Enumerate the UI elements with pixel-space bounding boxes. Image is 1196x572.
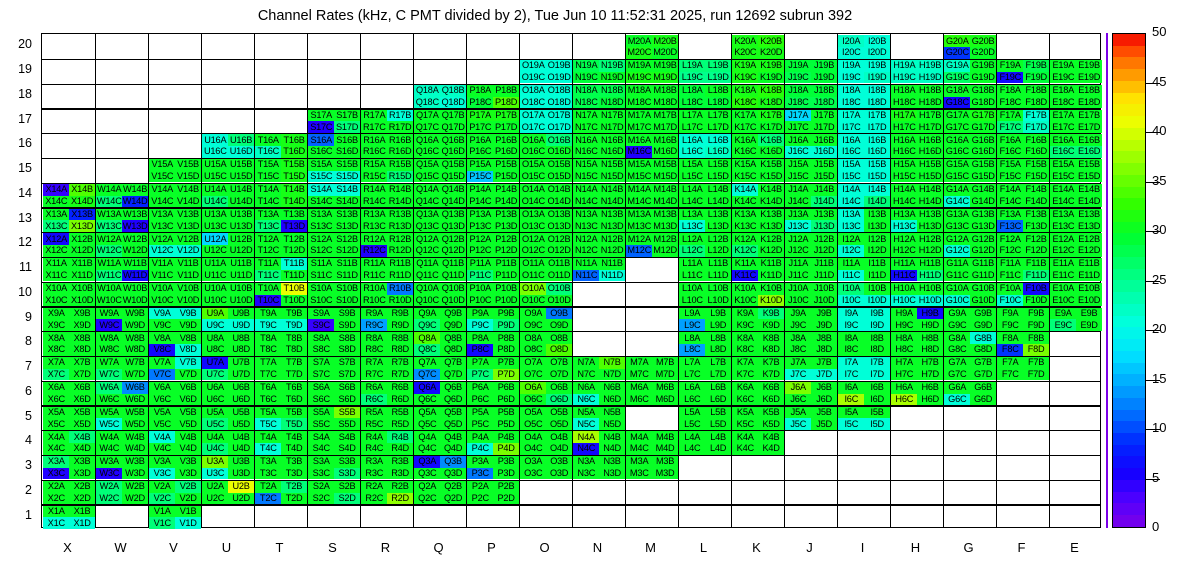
heatmap-subcell-c[interactable]: P10C [467,295,493,307]
heatmap-subcell-c[interactable]: X5C [43,418,69,430]
heatmap-subcell-b[interactable]: W8B [122,332,148,344]
heatmap-subcell-c[interactable]: I18C [838,97,864,109]
heatmap-subcell-b[interactable]: R13B [387,209,413,221]
heatmap-subcell-d[interactable]: X14D [69,196,95,208]
heatmap-subcell-b[interactable]: G18B [970,85,996,97]
heatmap-cell[interactable]: O12AO12BO12CO12D [520,233,572,256]
heatmap-subcell-b[interactable]: U7B [228,357,254,369]
heatmap-subcell-a[interactable]: G12A [944,233,970,245]
heatmap-cell[interactable]: Q5AQ5BQ5CQ5D [414,407,466,430]
heatmap-cell[interactable]: S11AS11BS11CS11D [308,258,360,281]
heatmap-cell[interactable]: K14AK14BK14CK14D [732,184,784,207]
heatmap-cell[interactable]: L16AL16BL16CL16D [679,134,731,157]
heatmap-cell[interactable]: R2AR2BR2CR2D [361,481,413,504]
heatmap-subcell-a[interactable]: M20A [626,35,652,47]
heatmap-subcell-d[interactable]: V10D [175,295,201,307]
heatmap-cell[interactable]: M13AM13BM13CM13D [626,209,678,232]
heatmap-subcell-d[interactable]: S10D [334,295,360,307]
heatmap-subcell-a[interactable]: U8A [202,332,228,344]
heatmap-subcell-a[interactable]: M4A [626,431,652,443]
heatmap-cell[interactable]: U13AU13BU13CU13D [202,209,254,232]
heatmap-subcell-c[interactable]: W4C [96,443,122,455]
heatmap-subcell-d[interactable]: S7D [334,369,360,381]
heatmap-cell[interactable]: N5AN5BN5CN5D [573,407,625,430]
heatmap-cell[interactable]: X10AX10BX10CX10D [43,283,95,306]
heatmap-subcell-c[interactable]: S15C [308,171,334,183]
heatmap-cell[interactable]: T10AT10BT10CT10D [255,283,307,306]
heatmap-subcell-a[interactable]: R14A [361,184,387,196]
heatmap-subcell-a[interactable]: L7A [679,357,705,369]
heatmap-subcell-c[interactable]: R5C [361,418,387,430]
heatmap-subcell-a[interactable]: G11A [944,258,970,270]
heatmap-cell[interactable]: S10AS10BS10CS10D [308,283,360,306]
heatmap-subcell-b[interactable]: U16B [228,134,254,146]
heatmap-cell[interactable]: L11AL11BL11CL11D [679,258,731,281]
heatmap-subcell-b[interactable]: S2B [334,481,360,493]
heatmap-subcell-a[interactable]: O8A [520,332,546,344]
heatmap-subcell-d[interactable]: P14D [493,196,519,208]
heatmap-subcell-c[interactable]: U10C [202,295,228,307]
heatmap-subcell-d[interactable]: S3D [334,468,360,480]
heatmap-subcell-b[interactable]: G6B [970,382,996,394]
heatmap-subcell-a[interactable]: P11A [467,258,493,270]
heatmap-subcell-a[interactable]: S2A [308,481,334,493]
heatmap-subcell-c[interactable]: X13C [43,220,69,232]
heatmap-subcell-a[interactable]: V8A [149,332,175,344]
heatmap-subcell-c[interactable]: G7C [944,369,970,381]
heatmap-subcell-d[interactable]: K18D [758,97,784,109]
heatmap-subcell-c[interactable]: E19C [1050,72,1076,84]
heatmap-cell[interactable]: P12AP12BP12CP12D [467,233,519,256]
heatmap-subcell-d[interactable]: J10D [811,295,837,307]
heatmap-subcell-a[interactable]: P13A [467,209,493,221]
heatmap-subcell-b[interactable]: U10B [228,283,254,295]
heatmap-subcell-a[interactable]: E11A [1050,258,1076,270]
heatmap-cell[interactable]: O3AO3BO3CO3D [520,456,572,479]
heatmap-subcell-d[interactable]: T13D [281,220,307,232]
heatmap-subcell-a[interactable]: I20A [838,35,864,47]
heatmap-subcell-d[interactable]: L7D [705,369,731,381]
heatmap-subcell-b[interactable]: P2B [493,481,519,493]
heatmap-subcell-c[interactable]: F7C [997,369,1023,381]
heatmap-subcell-d[interactable]: O6D [546,394,572,406]
heatmap-subcell-a[interactable]: V2A [149,481,175,493]
heatmap-subcell-a[interactable]: T8A [255,332,281,344]
heatmap-cell[interactable]: I18AI18BI18CI18D [838,85,890,108]
heatmap-subcell-d[interactable]: N11D [599,270,625,282]
heatmap-subcell-c[interactable]: V11C [149,270,175,282]
heatmap-subcell-c[interactable]: S11C [308,270,334,282]
heatmap-cell[interactable]: M4AM4BM4CM4D [626,431,678,454]
heatmap-subcell-d[interactable]: K6D [758,394,784,406]
heatmap-subcell-c[interactable]: S8C [308,344,334,356]
heatmap-subcell-d[interactable]: X13D [69,220,95,232]
heatmap-cell[interactable]: E17AE17BE17CE17D [1050,110,1102,133]
heatmap-subcell-a[interactable]: T6A [255,382,281,394]
heatmap-cell[interactable]: L15AL15BL15CL15D [679,159,731,182]
heatmap-subcell-a[interactable]: R6A [361,382,387,394]
heatmap-subcell-d[interactable]: M20D [652,47,678,59]
heatmap-cell[interactable]: F11AF11BF11CF11D [997,258,1049,281]
heatmap-subcell-d[interactable]: E14D [1076,196,1102,208]
heatmap-subcell-c[interactable]: I9C [838,319,864,331]
heatmap-subcell-a[interactable]: K17A [732,110,758,122]
heatmap-subcell-a[interactable]: O19A [520,60,546,72]
heatmap-cell[interactable]: J9AJ9BJ9CJ9D [785,308,837,331]
heatmap-subcell-d[interactable]: L18D [705,97,731,109]
heatmap-subcell-b[interactable]: E9B [1076,308,1102,320]
heatmap-subcell-d[interactable]: J8D [811,344,837,356]
heatmap-subcell-d[interactable]: H9D [917,319,943,331]
heatmap-subcell-b[interactable]: J6B [811,382,837,394]
heatmap-subcell-a[interactable]: V12A [149,233,175,245]
heatmap-subcell-b[interactable]: S7B [334,357,360,369]
heatmap-subcell-b[interactable]: L10B [705,283,731,295]
heatmap-cell[interactable]: V2AV2BV2CV2D [149,481,201,504]
heatmap-subcell-d[interactable]: W13D [122,220,148,232]
heatmap-subcell-b[interactable]: Q3B [440,456,466,468]
heatmap-subcell-d[interactable]: O13D [546,220,572,232]
heatmap-subcell-c[interactable]: K12C [732,245,758,257]
heatmap-subcell-c[interactable]: F13C [997,220,1023,232]
heatmap-subcell-c[interactable]: M16C [626,146,652,158]
heatmap-subcell-a[interactable]: P4A [467,431,493,443]
heatmap-subcell-c[interactable]: X2C [43,493,69,505]
heatmap-subcell-b[interactable]: S4B [334,431,360,443]
heatmap-cell[interactable]: R12AR12BR12CR12D [361,233,413,256]
heatmap-cell[interactable]: T15AT15BT15CT15D [255,159,307,182]
heatmap-subcell-b[interactable]: O8B [546,332,572,344]
heatmap-subcell-c[interactable]: Q16C [414,146,440,158]
heatmap-subcell-a[interactable]: H18A [891,85,917,97]
heatmap-subcell-b[interactable]: E10B [1076,283,1102,295]
heatmap-subcell-d[interactable]: U9D [228,319,254,331]
heatmap-subcell-b[interactable]: E19B [1076,60,1102,72]
heatmap-subcell-b[interactable]: Q16B [440,134,466,146]
heatmap-subcell-b[interactable]: L15B [705,159,731,171]
heatmap-cell[interactable]: H9AH9BH9CH9D [891,308,943,331]
heatmap-subcell-a[interactable]: M15A [626,159,652,171]
heatmap-subcell-a[interactable]: F16A [997,134,1023,146]
heatmap-subcell-b[interactable]: H12B [917,233,943,245]
heatmap-cell[interactable]: W13AW13BW13CW13D [96,209,148,232]
heatmap-subcell-c[interactable]: F19C [997,72,1023,84]
heatmap-subcell-a[interactable]: S7A [308,357,334,369]
heatmap-subcell-a[interactable]: S10A [308,283,334,295]
heatmap-subcell-c[interactable]: E18C [1050,97,1076,109]
heatmap-subcell-c[interactable]: V10C [149,295,175,307]
heatmap-subcell-b[interactable]: P3B [493,456,519,468]
heatmap-subcell-a[interactable]: W3A [96,456,122,468]
heatmap-subcell-d[interactable]: F9D [1023,319,1049,331]
heatmap-subcell-d[interactable]: P10D [493,295,519,307]
heatmap-subcell-c[interactable]: I5C [838,418,864,430]
heatmap-subcell-a[interactable]: V6A [149,382,175,394]
heatmap-subcell-b[interactable]: F9B [1023,308,1049,320]
heatmap-subcell-b[interactable]: O19B [546,60,572,72]
heatmap-subcell-b[interactable]: Q11B [440,258,466,270]
heatmap-subcell-d[interactable]: Q16D [440,146,466,158]
heatmap-cell[interactable]: G10AG10BG10CG10D [944,283,996,306]
heatmap-subcell-a[interactable]: T14A [255,184,281,196]
heatmap-subcell-c[interactable]: M18C [626,97,652,109]
heatmap-subcell-b[interactable]: L12B [705,233,731,245]
heatmap-subcell-d[interactable]: S9D [334,319,360,331]
heatmap-cell[interactable]: P2AP2BP2CP2D [467,481,519,504]
heatmap-subcell-c[interactable]: G18C [944,97,970,109]
heatmap-subcell-c[interactable]: W8C [96,344,122,356]
heatmap-subcell-b[interactable]: J14B [811,184,837,196]
heatmap-subcell-d[interactable]: J13D [811,220,837,232]
heatmap-subcell-b[interactable]: N14B [599,184,625,196]
heatmap-subcell-d[interactable]: N3D [599,468,625,480]
heatmap-subcell-c[interactable]: U9C [202,319,228,331]
heatmap-subcell-a[interactable]: V13A [149,209,175,221]
heatmap-subcell-a[interactable]: R5A [361,407,387,419]
heatmap-subcell-a[interactable]: E10A [1050,283,1076,295]
heatmap-subcell-d[interactable]: G12D [970,245,996,257]
heatmap-cell[interactable]: P11AP11BP11CP11D [467,258,519,281]
heatmap-cell[interactable]: L18AL18BL18CL18D [679,85,731,108]
heatmap-subcell-c[interactable]: G14C [944,196,970,208]
heatmap-subcell-c[interactable]: E13C [1050,220,1076,232]
heatmap-subcell-b[interactable]: L14B [705,184,731,196]
heatmap-subcell-c[interactable]: G12C [944,245,970,257]
heatmap-subcell-a[interactable]: I17A [838,110,864,122]
heatmap-subcell-b[interactable]: X9B [69,308,95,320]
heatmap-cell[interactable]: Q16AQ16BQ16CQ16D [414,134,466,157]
heatmap-cell[interactable]: U7AU7BU7CU7D [202,357,254,380]
heatmap-subcell-b[interactable]: X8B [69,332,95,344]
heatmap-subcell-b[interactable]: M17B [652,110,678,122]
heatmap-cell[interactable]: X12AX12BX12CX12D [43,233,95,256]
heatmap-subcell-d[interactable]: J19D [811,72,837,84]
heatmap-cell[interactable]: H7AH7BH7CH7D [891,357,943,380]
heatmap-subcell-c[interactable]: J14C [785,196,811,208]
heatmap-subcell-a[interactable]: X14A [43,184,69,196]
heatmap-cell[interactable]: J14AJ14BJ14CJ14D [785,184,837,207]
heatmap-subcell-d[interactable]: R2D [387,493,413,505]
heatmap-subcell-b[interactable]: W14B [122,184,148,196]
heatmap-subcell-a[interactable]: P16A [467,134,493,146]
heatmap-subcell-b[interactable]: Q17B [440,110,466,122]
heatmap-subcell-a[interactable]: G20A [944,35,970,47]
heatmap-subcell-a[interactable]: Q17A [414,110,440,122]
heatmap-subcell-c[interactable]: Q2C [414,493,440,505]
heatmap-subcell-d[interactable]: O17D [546,121,572,133]
heatmap-cell[interactable]: Q6AQ6BQ6CQ6D [414,382,466,405]
heatmap-cell[interactable]: W9AW9BW9CW9D [96,308,148,331]
heatmap-subcell-d[interactable]: S17D [334,121,360,133]
heatmap-subcell-d[interactable]: W6D [122,394,148,406]
heatmap-subcell-c[interactable]: T8C [255,344,281,356]
heatmap-subcell-d[interactable]: U13D [228,220,254,232]
heatmap-subcell-b[interactable]: F8B [1023,332,1049,344]
heatmap-subcell-c[interactable]: L7C [679,369,705,381]
heatmap-subcell-a[interactable]: H6A [891,382,917,394]
heatmap-subcell-d[interactable]: V3D [175,468,201,480]
heatmap-subcell-c[interactable]: R14C [361,196,387,208]
heatmap-cell[interactable]: V1AV1BV1CV1D [149,506,201,529]
heatmap-subcell-a[interactable]: K12A [732,233,758,245]
heatmap-subcell-a[interactable]: Q14A [414,184,440,196]
heatmap-subcell-b[interactable]: V2B [175,481,201,493]
heatmap-subcell-b[interactable]: S3B [334,456,360,468]
heatmap-subcell-c[interactable]: N14C [573,196,599,208]
heatmap-cell[interactable]: K7AK7BK7CK7D [732,357,784,380]
heatmap-subcell-c[interactable]: S17C [308,121,334,133]
heatmap-subcell-c[interactable]: Q3C [414,468,440,480]
heatmap-subcell-d[interactable]: N17D [599,121,625,133]
heatmap-subcell-d[interactable]: L10D [705,295,731,307]
heatmap-subcell-b[interactable]: U12B [228,233,254,245]
heatmap-subcell-c[interactable]: Q12C [414,245,440,257]
heatmap-subcell-b[interactable]: S12B [334,233,360,245]
heatmap-subcell-d[interactable]: R14D [387,196,413,208]
heatmap-cell[interactable]: P14AP14BP14CP14D [467,184,519,207]
heatmap-subcell-b[interactable]: R11B [387,258,413,270]
heatmap-cell[interactable]: M16AM16BM16CM16D [626,134,678,157]
heatmap-cell[interactable]: F19AF19BF19CF19D [997,60,1049,83]
heatmap-cell[interactable]: V6AV6BV6CV6D [149,382,201,405]
heatmap-subcell-d[interactable]: U2D [228,493,254,505]
heatmap-subcell-b[interactable]: F11B [1023,258,1049,270]
heatmap-subcell-d[interactable]: W4D [122,443,148,455]
heatmap-subcell-c[interactable]: N6C [573,394,599,406]
heatmap-subcell-d[interactable]: U8D [228,344,254,356]
heatmap-subcell-c[interactable]: Q15C [414,171,440,183]
heatmap-subcell-a[interactable]: N3A [573,456,599,468]
heatmap-cell[interactable]: S3AS3BS3CS3D [308,456,360,479]
heatmap-subcell-c[interactable]: T6C [255,394,281,406]
heatmap-cell[interactable]: N11AN11BN11CN11D [573,258,625,281]
heatmap-subcell-b[interactable]: G17B [970,110,996,122]
heatmap-subcell-c[interactable]: W6C [96,394,122,406]
heatmap-cell[interactable]: O8AO8BO8CO8D [520,332,572,355]
heatmap-subcell-a[interactable]: T16A [255,134,281,146]
heatmap-subcell-c[interactable]: W12C [96,245,122,257]
heatmap-subcell-b[interactable]: G8B [970,332,996,344]
heatmap-subcell-d[interactable]: T7D [281,369,307,381]
heatmap-subcell-a[interactable]: I19A [838,60,864,72]
heatmap-subcell-b[interactable]: P6B [493,382,519,394]
heatmap-cell[interactable]: S14AS14BS14CS14D [308,184,360,207]
heatmap-subcell-b[interactable]: I12B [864,233,890,245]
heatmap-subcell-d[interactable]: E17D [1076,121,1102,133]
heatmap-subcell-c[interactable]: S4C [308,443,334,455]
heatmap-subcell-b[interactable]: M13B [652,209,678,221]
heatmap-cell[interactable]: N15AN15BN15CN15D [573,159,625,182]
heatmap-subcell-b[interactable]: J8B [811,332,837,344]
heatmap-subcell-a[interactable]: V10A [149,283,175,295]
heatmap-subcell-a[interactable]: O13A [520,209,546,221]
heatmap-subcell-b[interactable]: F17B [1023,110,1049,122]
heatmap-subcell-b[interactable]: O5B [546,407,572,419]
heatmap-cell[interactable]: I20AI20BI20CI20D [838,35,890,58]
heatmap-subcell-d[interactable]: F16D [1023,146,1049,158]
heatmap-subcell-d[interactable]: U12D [228,245,254,257]
heatmap-subcell-a[interactable]: J14A [785,184,811,196]
heatmap-subcell-b[interactable]: F15B [1023,159,1049,171]
heatmap-subcell-a[interactable]: Q4A [414,431,440,443]
heatmap-subcell-c[interactable]: P14C [467,196,493,208]
heatmap-subcell-c[interactable]: R16C [361,146,387,158]
heatmap-cell[interactable]: M20AM20BM20CM20D [626,35,678,58]
heatmap-subcell-d[interactable]: F10D [1023,295,1049,307]
heatmap-subcell-d[interactable]: I12D [864,245,890,257]
heatmap-subcell-c[interactable]: E16C [1050,146,1076,158]
heatmap-cell[interactable]: X13AX13BX13CX13D [43,209,95,232]
heatmap-cell[interactable]: G16AG16BG16CG16D [944,134,996,157]
heatmap-subcell-a[interactable]: K19A [732,60,758,72]
heatmap-subcell-d[interactable]: V14D [175,196,201,208]
heatmap-subcell-c[interactable]: O8C [520,344,546,356]
heatmap-subcell-b[interactable]: T11B [281,258,307,270]
heatmap-subcell-d[interactable]: H7D [917,369,943,381]
heatmap-subcell-d[interactable]: G9D [970,319,996,331]
heatmap-cell[interactable]: G6AG6BG6CG6D [944,382,996,405]
heatmap-subcell-b[interactable]: W12B [122,233,148,245]
heatmap-subcell-a[interactable]: R7A [361,357,387,369]
heatmap-cell[interactable]: N19AN19BN19CN19D [573,60,625,83]
heatmap-subcell-b[interactable]: V6B [175,382,201,394]
heatmap-subcell-c[interactable]: X6C [43,394,69,406]
heatmap-subcell-c[interactable]: V4C [149,443,175,455]
heatmap-cell[interactable]: L5AL5BL5CL5D [679,407,731,430]
heatmap-subcell-d[interactable]: K10D [758,295,784,307]
heatmap-subcell-a[interactable]: S8A [308,332,334,344]
heatmap-subcell-c[interactable]: I7C [838,369,864,381]
heatmap-subcell-a[interactable]: F7A [997,357,1023,369]
heatmap-subcell-d[interactable]: Q5D [440,418,466,430]
heatmap-subcell-d[interactable]: V8D [175,344,201,356]
heatmap-subcell-c[interactable]: M4C [626,443,652,455]
heatmap-subcell-c[interactable]: H9C [891,319,917,331]
heatmap-subcell-a[interactable]: K13A [732,209,758,221]
heatmap-subcell-d[interactable]: U10D [228,295,254,307]
heatmap-subcell-a[interactable]: R17A [361,110,387,122]
heatmap-subcell-a[interactable]: H9A [891,308,917,320]
heatmap-subcell-d[interactable]: V5D [175,418,201,430]
heatmap-subcell-d[interactable]: P12D [493,245,519,257]
heatmap-cell[interactable]: E13AE13BE13CE13D [1050,209,1102,232]
heatmap-subcell-b[interactable]: N6B [599,382,625,394]
heatmap-subcell-b[interactable]: V12B [175,233,201,245]
heatmap-subcell-c[interactable]: M6C [626,394,652,406]
heatmap-subcell-b[interactable]: H10B [917,283,943,295]
heatmap-subcell-a[interactable]: S14A [308,184,334,196]
heatmap-subcell-d[interactable]: Q6D [440,394,466,406]
heatmap-subcell-d[interactable]: I19D [864,72,890,84]
heatmap-subcell-b[interactable]: K11B [758,258,784,270]
heatmap-subcell-b[interactable]: I17B [864,110,890,122]
heatmap-cell[interactable]: T8AT8BT8CT8D [255,332,307,355]
heatmap-cell[interactable]: F16AF16BF16CF16D [997,134,1049,157]
heatmap-cell[interactable]: X7AX7BX7CX7D [43,357,95,380]
heatmap-subcell-d[interactable]: T5D [281,418,307,430]
heatmap-cell[interactable]: S12AS12BS12CS12D [308,233,360,256]
heatmap-subcell-d[interactable]: R13D [387,220,413,232]
heatmap-subcell-a[interactable]: J7A [785,357,811,369]
heatmap-cell[interactable]: H13AH13BH13CH13D [891,209,943,232]
heatmap-subcell-c[interactable]: K9C [732,319,758,331]
heatmap-subcell-a[interactable]: W10A [96,283,122,295]
heatmap-subcell-a[interactable]: V5A [149,407,175,419]
heatmap-cell[interactable]: J10AJ10BJ10CJ10D [785,283,837,306]
heatmap-subcell-d[interactable]: S16D [334,146,360,158]
heatmap-subcell-b[interactable]: J17B [811,110,837,122]
heatmap-subcell-d[interactable]: M18D [652,97,678,109]
